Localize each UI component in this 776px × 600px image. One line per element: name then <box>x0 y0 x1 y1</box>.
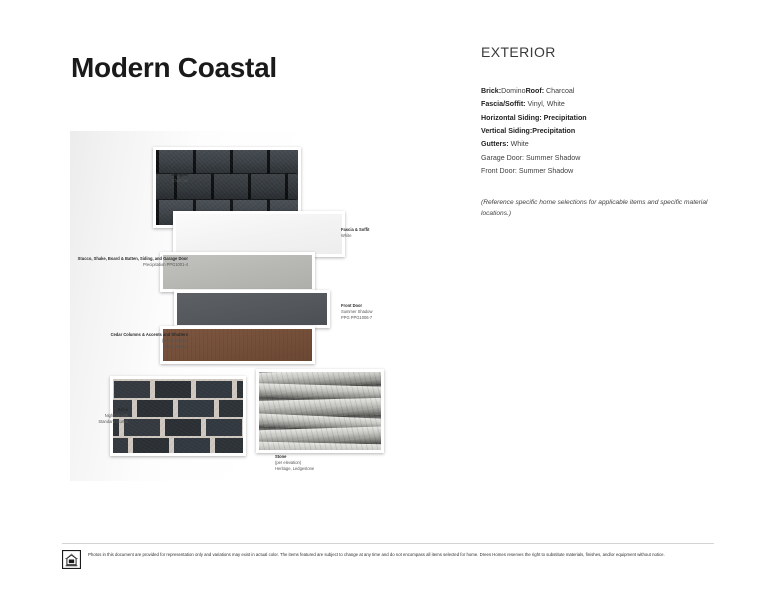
exterior-heading: EXTERIOR <box>481 44 721 60</box>
spec-row-front-door: Front Door: Summer Shadow <box>481 165 721 178</box>
swatch-stone <box>256 369 384 453</box>
brick-grain-texture <box>113 379 243 453</box>
caption-title: Stucco, Shake, Board & Batten, Siding, a… <box>70 256 188 262</box>
spec-label: Horizontal Siding: <box>481 114 542 122</box>
page-title: Modern Coastal <box>71 52 277 84</box>
spec-row-vertical-siding: Vertical Siding:Precipitation <box>481 125 721 138</box>
spec-label: Vertical Siding: <box>481 127 532 135</box>
caption-sub: Precipitation PPG1001-4 <box>70 262 188 268</box>
spec-label-secondary: Roof: <box>526 87 545 95</box>
spec-value-secondary: Charcoal <box>544 87 574 95</box>
spec-label: Brick: <box>481 87 501 95</box>
spec-row-brick-roof: Brick:DominoRoof: Charcoal <box>481 85 721 98</box>
caption-cedar-columns: Cedar Columns & Accents and Shutters (pe… <box>78 332 188 349</box>
footer-divider <box>62 543 714 544</box>
spec-label: Front Door: <box>481 167 517 175</box>
spec-value: Vinyl, White <box>526 100 565 108</box>
exterior-spec-list: Brick:DominoRoof: Charcoal Fascia/Soffit… <box>481 85 721 178</box>
spec-value: Summer Shadow <box>524 154 580 162</box>
footer: Photos in this document are provided for… <box>62 549 722 574</box>
swatch-brick <box>110 376 246 456</box>
caption-front-door: Front Door Summer Shadow PPG PPG1006-7 <box>341 303 399 320</box>
caption-sub: Black Walnut <box>78 344 188 350</box>
spec-label: Garage Door: <box>481 154 524 162</box>
spec-value: White <box>509 140 529 148</box>
caption-shingles: Shingles Charcoal <box>130 172 188 184</box>
caption-stone: Stone (per elevation) Heritage, Ledgesto… <box>275 454 365 471</box>
swatch-front-door <box>174 290 330 328</box>
equal-housing-opportunity-logo <box>62 550 81 574</box>
caption-sub: Heritage, Ledgestone <box>275 466 365 472</box>
caption-sub: Standard Mortar <box>70 419 128 425</box>
spec-value: Precipitation <box>542 114 587 122</box>
caption-fascia-soffit: Fascia & Soffit White <box>341 227 399 239</box>
caption-brick: Brick Nightfall with Standard Mortar <box>70 407 128 424</box>
caption-sub: PPG PPG1006-7 <box>341 315 399 321</box>
material-selection-board: Shingles Charcoal Fascia & Soffit White … <box>70 131 400 481</box>
exterior-spec-panel: EXTERIOR Brick:DominoRoof: Charcoal Fasc… <box>481 44 721 220</box>
stone-grain-texture <box>259 372 381 450</box>
caption-sub: White <box>341 233 399 239</box>
spec-row-fascia-soffit: Fascia/Soffit: Vinyl, White <box>481 98 721 111</box>
spec-value: Domino <box>501 87 525 95</box>
exterior-reference-note: (Reference specific home selections for … <box>481 198 721 219</box>
caption-stucco-siding: Stucco, Shake, Board & Batten, Siding, a… <box>70 256 188 268</box>
spec-label: Gutters: <box>481 140 509 148</box>
spec-row-garage-door: Garage Door: Summer Shadow <box>481 152 721 165</box>
spec-label: Fascia/Soffit: <box>481 100 526 108</box>
swatch-fascia-soffit <box>173 211 345 257</box>
spec-value: Precipitation <box>532 127 575 135</box>
footer-disclaimer: Photos in this document are provided for… <box>88 549 665 559</box>
spec-value: Summer Shadow <box>517 167 573 175</box>
spec-row-horizontal-siding: Horizontal Siding: Precipitation <box>481 112 721 125</box>
spec-row-gutters: Gutters: White <box>481 138 721 151</box>
caption-sub: Charcoal <box>130 178 188 184</box>
